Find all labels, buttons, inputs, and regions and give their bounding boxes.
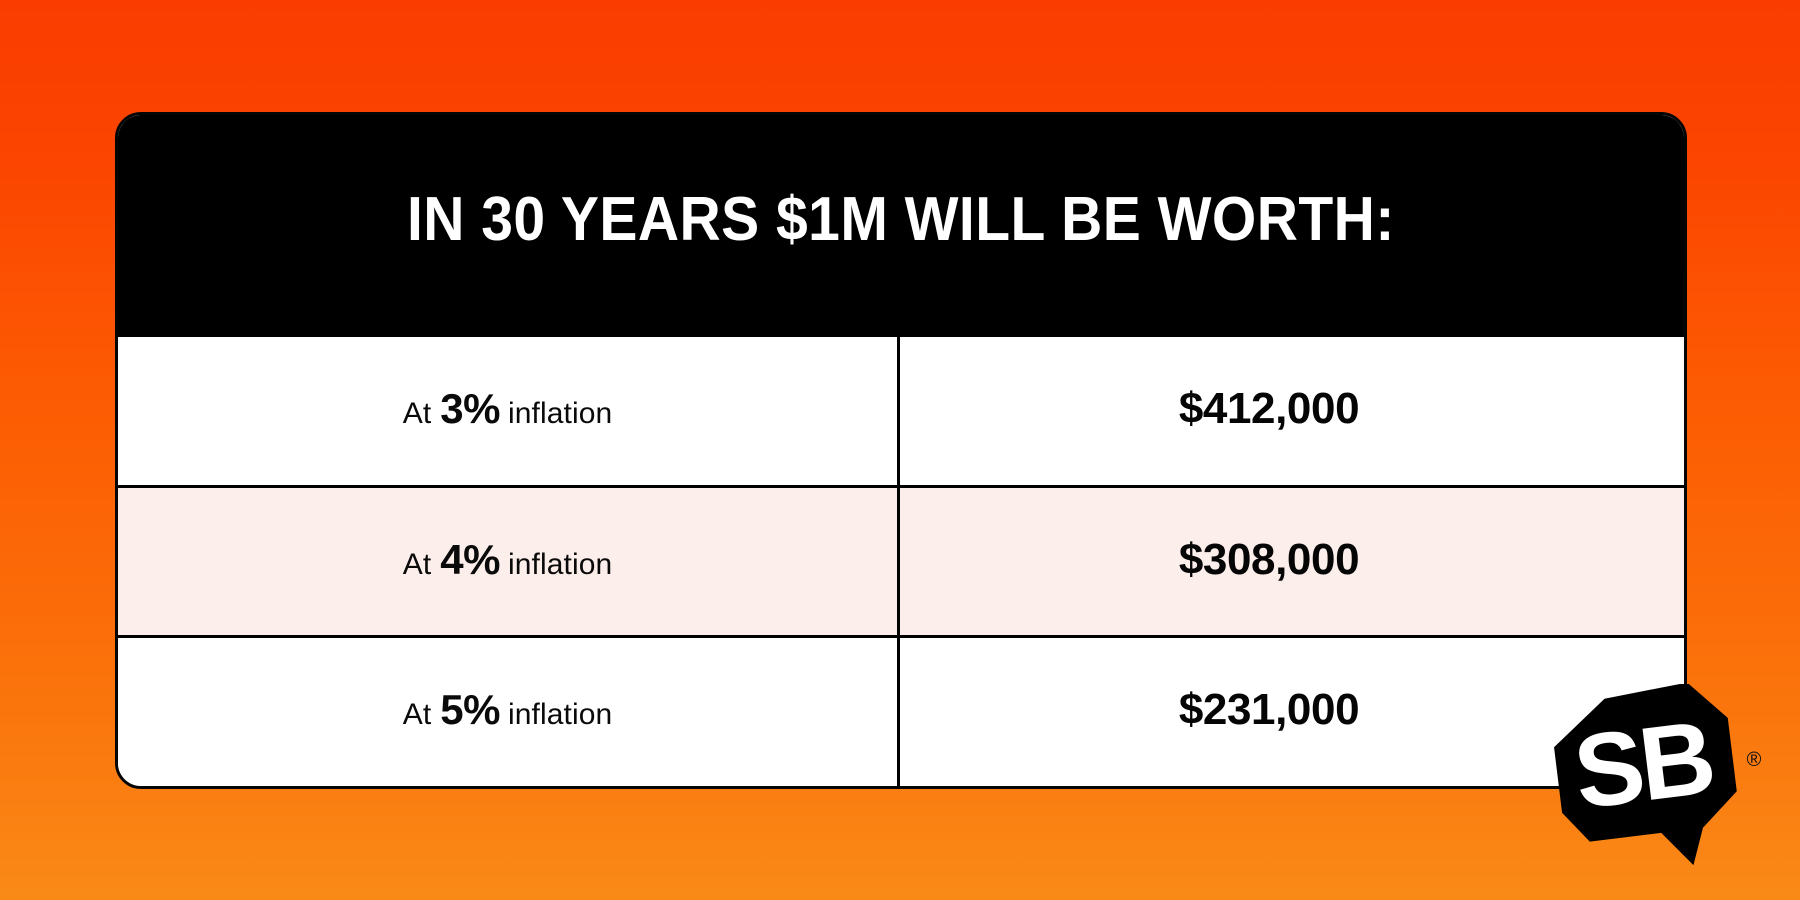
card-header: IN 30 YEARS $1M WILL BE WORTH: (118, 115, 1684, 337)
table-cell-value: $412,000 (900, 337, 1684, 485)
label-prefix: At (403, 397, 432, 431)
inflation-label: At 3% inflation (403, 385, 613, 433)
label-suffix: inflation (508, 698, 612, 732)
label-rate: 3% (440, 385, 500, 433)
label-suffix: inflation (508, 548, 612, 582)
table-cell-label: At 5% inflation (118, 638, 900, 786)
trademark-symbol: ® (1747, 749, 1762, 771)
label-rate: 5% (440, 686, 500, 734)
page-title: IN 30 YEARS $1M WILL BE WORTH: (407, 189, 1395, 251)
label-prefix: At (403, 548, 432, 582)
table-cell-label: At 3% inflation (118, 337, 900, 485)
table-row: At 3% inflation $412,000 (118, 337, 1684, 488)
value-amount: $308,000 (1179, 535, 1359, 585)
table-row: At 5% inflation $231,000 (118, 638, 1684, 786)
infographic-card: IN 30 YEARS $1M WILL BE WORTH: At 3% inf… (115, 112, 1687, 789)
label-rate: 4% (440, 536, 500, 584)
table-row: At 4% inflation $308,000 (118, 488, 1684, 639)
table-cell-label: At 4% inflation (118, 488, 900, 636)
inflation-label: At 4% inflation (403, 536, 613, 584)
value-amount: $231,000 (1179, 685, 1359, 735)
sb-logo-icon: SB ® (1548, 684, 1778, 874)
sb-logo[interactable]: SB ® (1548, 684, 1778, 874)
svg-text:SB: SB (1568, 700, 1718, 832)
table-cell-value: $308,000 (900, 488, 1684, 636)
inflation-label: At 5% inflation (403, 686, 613, 734)
value-amount: $412,000 (1179, 384, 1359, 434)
label-suffix: inflation (508, 397, 612, 431)
data-table: At 3% inflation $412,000 At 4% inflation… (118, 337, 1684, 786)
label-prefix: At (403, 698, 432, 732)
